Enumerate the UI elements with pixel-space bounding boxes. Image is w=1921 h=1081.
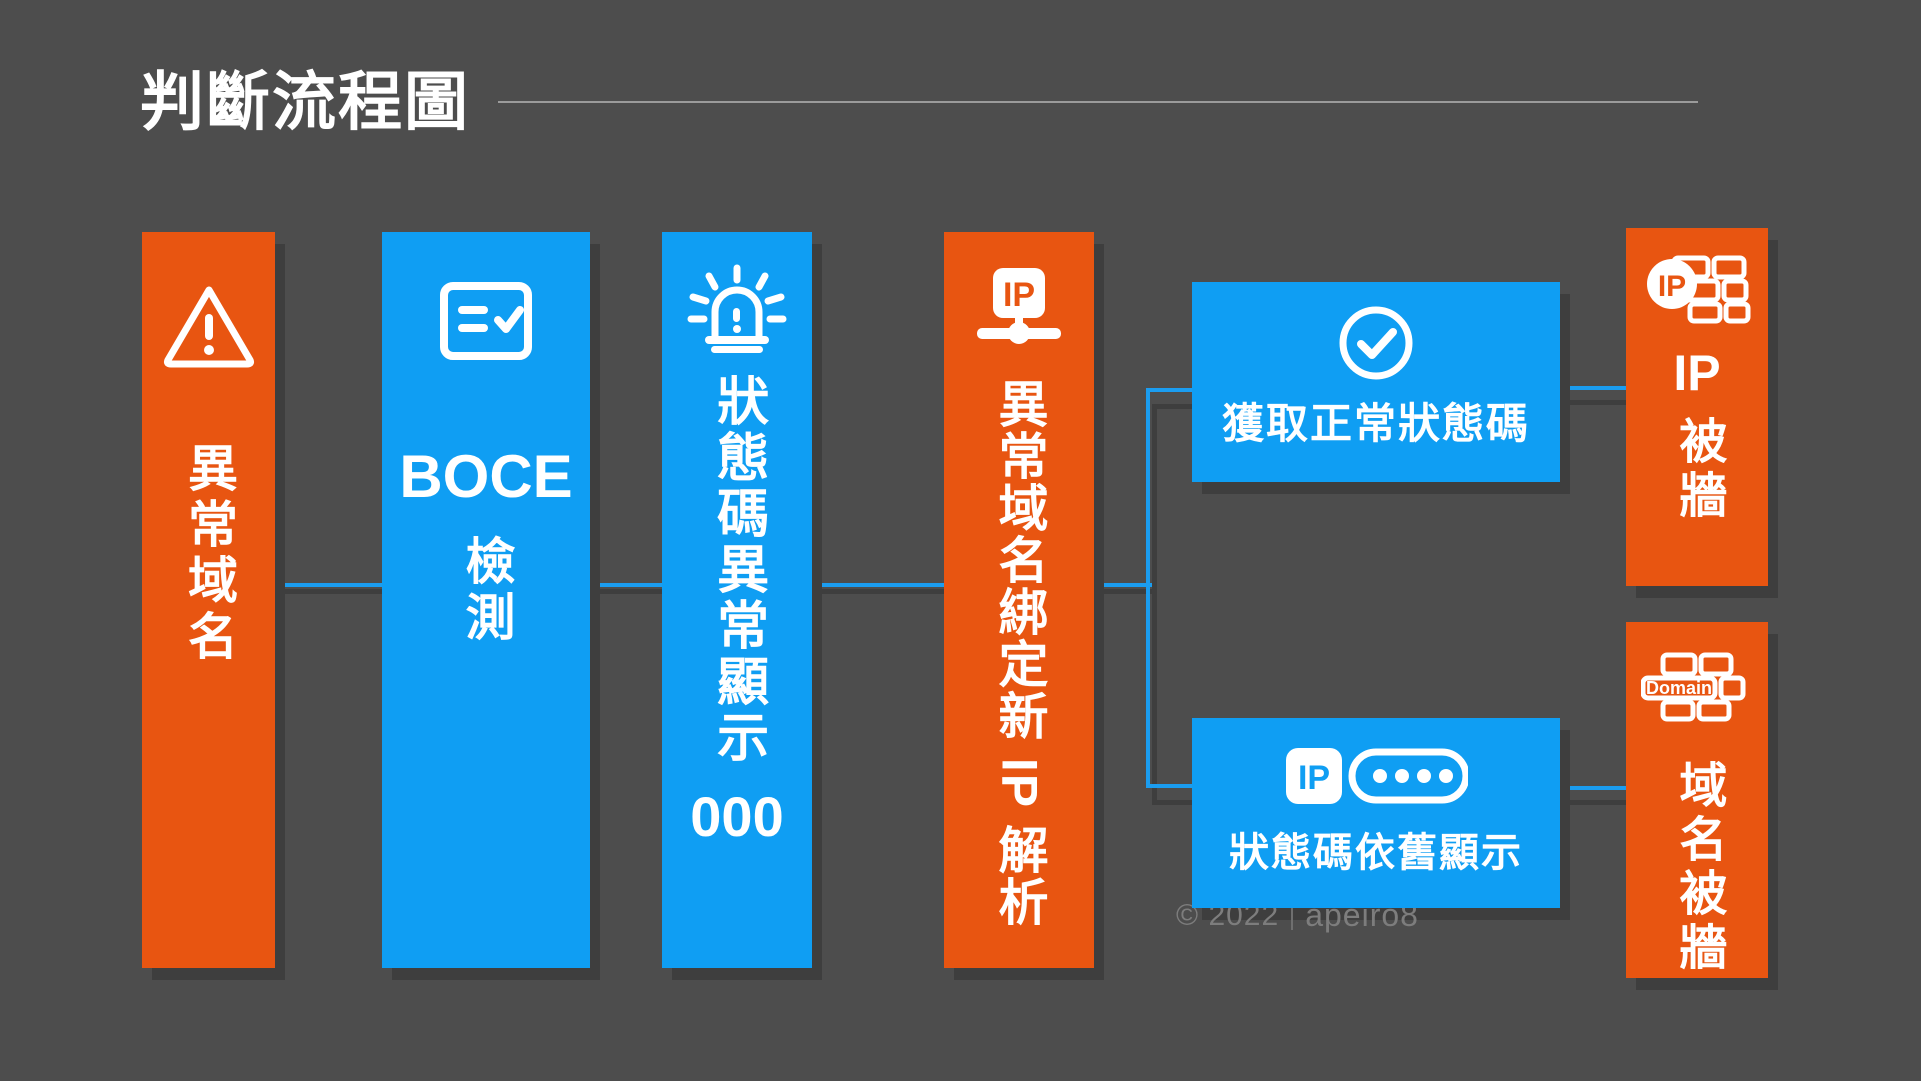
- flow-node-status-code-persists[interactable]: IP 狀態碼依舊顯示: [1192, 718, 1560, 908]
- connector-trunk-to-persist: [1146, 784, 1198, 788]
- flow-node-status-code-abnormal[interactable]: 狀態碼異常顯示 000: [662, 232, 812, 968]
- connector-boce-to-status: [590, 583, 666, 587]
- node-label: 檢測: [457, 535, 516, 647]
- connector-shadow: [590, 589, 666, 594]
- warning-triangle-icon: [163, 284, 255, 368]
- ip-dots-icon: IP: [1284, 744, 1468, 808]
- check-circle-icon: [1337, 304, 1415, 382]
- node-label: 域名被牆: [1669, 760, 1726, 976]
- node-status-code-value: 000: [690, 784, 783, 849]
- svg-text:IP: IP: [1298, 759, 1330, 797]
- flow-node-bind-new-ip[interactable]: IP 異常域名綁定新 IP 解析: [944, 232, 1094, 968]
- connector-shadow: [276, 589, 386, 594]
- connector-split-trunk: [1146, 388, 1150, 788]
- node-label: 獲取正常狀態碼: [1222, 390, 1530, 451]
- flow-node-ip-blocked[interactable]: IP IP 被牆: [1626, 228, 1768, 586]
- domain-brickwall-icon: Domain: [1641, 652, 1753, 722]
- node-label: 狀態碼異常顯示: [706, 374, 767, 766]
- node-latin-label: BOCE: [399, 442, 572, 511]
- domain-icon-label: Domain: [1646, 678, 1712, 698]
- flow-node-domain-blocked[interactable]: Domain 域名被牆: [1626, 622, 1768, 978]
- node-latin-label: IP: [1673, 344, 1720, 402]
- connector-shadow: [812, 589, 948, 594]
- flow-node-boce-detection[interactable]: BOCE 檢測: [382, 232, 590, 968]
- svg-text:IP: IP: [1003, 276, 1035, 314]
- ip-node-icon: IP: [971, 264, 1067, 352]
- connector-persist-to-domainblocked: [1560, 786, 1632, 790]
- flow-node-normal-status-code[interactable]: 獲取正常狀態碼: [1192, 282, 1560, 482]
- alarm-siren-icon: [685, 264, 789, 356]
- flow-node-abnormal-domain[interactable]: 異常域名: [142, 232, 275, 968]
- node-label: 異常域名綁定新 IP 解析: [990, 378, 1049, 928]
- node-label: 異常域名: [179, 442, 238, 666]
- svg-text:IP: IP: [1658, 270, 1686, 303]
- ip-brickwall-icon: IP: [1642, 254, 1752, 324]
- node-label: 被牆: [1669, 416, 1726, 524]
- connector-domain-to-boce: [276, 583, 386, 587]
- connector-status-to-bindip: [812, 583, 948, 587]
- connector-shadow: [1152, 404, 1157, 804]
- checklist-document-icon: [440, 282, 532, 360]
- diagram-canvas: 判斷流程圖: [0, 0, 1921, 1081]
- connector-shadow: [1560, 800, 1632, 805]
- connector-normal-to-ipblocked: [1560, 386, 1632, 390]
- connector-shadow: [1560, 400, 1632, 405]
- connector-trunk-to-normal: [1146, 388, 1198, 392]
- node-label: 狀態碼依舊顯示: [1229, 820, 1523, 878]
